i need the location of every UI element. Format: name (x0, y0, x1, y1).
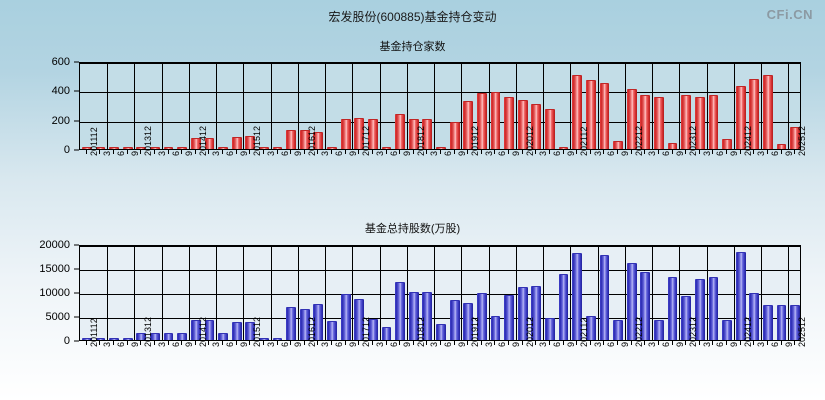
bar (777, 305, 787, 340)
x-axis-tick-mark (154, 341, 155, 345)
x-axis-tick-mark (699, 150, 700, 154)
x-axis-tick-mark (522, 150, 523, 154)
x-axis-tick-mark (236, 150, 237, 154)
x-axis-tick-label: 6 (553, 342, 562, 347)
x-axis-tick-mark (440, 341, 441, 345)
x-axis-tick-mark (617, 150, 618, 154)
bar (709, 277, 719, 340)
x-axis-tick-mark (753, 341, 754, 345)
x-axis-tick-mark (277, 341, 278, 345)
x-axis-tick-label: 3 (158, 342, 167, 347)
x-axis-tick-mark (590, 150, 591, 154)
x-axis-tick-label: 3 (539, 151, 548, 156)
x-axis-tick-label: 6 (607, 342, 616, 347)
x-axis-tick-label: 3 (757, 342, 766, 347)
x-axis-tick-mark (372, 341, 373, 345)
x-axis-tick-mark (781, 341, 782, 345)
y-axis-tick-label: 0 (0, 335, 70, 347)
x-axis-tick-label: 3 (212, 151, 221, 156)
x-axis-tick-mark (345, 150, 346, 154)
x-axis-tick-label: 6 (390, 342, 399, 347)
x-axis-tick-mark (358, 150, 359, 154)
bar (722, 320, 732, 340)
bar (504, 97, 514, 149)
y-axis-tick-mark (74, 317, 79, 318)
x-axis-tick-mark (113, 341, 114, 345)
x-axis-tick-mark (753, 150, 754, 154)
bar (668, 277, 678, 340)
x-axis-tick-label: 202112 (580, 127, 589, 156)
bar (613, 320, 623, 340)
y-axis-tick-label: 0 (0, 144, 70, 156)
x-axis-tick-label: 3 (648, 151, 657, 156)
bar (763, 75, 773, 149)
x-axis-tick-label: 6 (335, 151, 344, 156)
x-axis-tick-label: 9 (567, 151, 576, 156)
x-axis-tick-label: 9 (185, 151, 194, 156)
bar (613, 141, 623, 149)
y-axis-tick-mark (74, 62, 79, 63)
x-axis-tick-mark (685, 341, 686, 345)
bar (491, 92, 501, 149)
x-axis-tick-label: 9 (512, 151, 521, 156)
y-axis-tick-mark (74, 91, 79, 92)
bar (341, 294, 351, 340)
x-axis-tick-label: 202312 (689, 126, 698, 156)
x-axis-tick-label: 201512 (253, 317, 262, 347)
x-axis-tick-label: 3 (485, 342, 494, 347)
x-axis-tick-label: 6 (444, 342, 453, 347)
y-axis-tick-mark (74, 120, 79, 121)
x-axis-tick-mark (304, 150, 305, 154)
x-axis-tick-mark (699, 341, 700, 345)
x-axis-tick-label: 6 (716, 151, 725, 156)
x-axis-tick-label: 3 (267, 342, 276, 347)
x-axis-tick-mark (590, 341, 591, 345)
bar (341, 119, 351, 149)
x-axis-tick-mark (658, 341, 659, 345)
x-axis-tick-mark (426, 341, 427, 345)
x-axis-tick-label: 9 (458, 151, 467, 156)
x-axis-tick-mark (794, 341, 795, 345)
x-axis-tick-label: 3 (594, 342, 603, 347)
x-axis-tick-mark (467, 341, 468, 345)
x-axis-tick-label: 201312 (144, 317, 153, 347)
x-axis-tick-mark (454, 341, 455, 345)
x-axis-tick-label: 3 (376, 151, 385, 156)
x-axis-tick-label: 3 (321, 151, 330, 156)
x-axis-tick-label: 3 (703, 342, 712, 347)
x-axis-tick-label: 3 (757, 151, 766, 156)
x-axis-tick-label: 201912 (471, 126, 480, 156)
x-axis-tick-label: 6 (498, 151, 507, 156)
page-title: 宏发股份(600885)基金持仓变动 (0, 8, 825, 25)
x-axis-tick-mark (644, 341, 645, 345)
x-axis-tick-label: 9 (349, 342, 358, 347)
x-axis-tick-mark (290, 150, 291, 154)
x-axis-tick-mark (685, 150, 686, 154)
x-axis-tick-label: 3 (267, 151, 276, 156)
x-axis-tick-mark (222, 150, 223, 154)
bar (123, 338, 133, 340)
x-axis-tick-label: 201112 (90, 318, 99, 347)
x-axis-tick-label: 201912 (471, 317, 480, 347)
x-axis-tick-label: 6 (716, 342, 725, 347)
x-axis-tick-label: 3 (430, 342, 439, 347)
bar (286, 130, 296, 149)
y-axis-tick-label: 600 (0, 56, 70, 68)
bar (491, 316, 501, 340)
x-axis-tick-label: 6 (390, 151, 399, 156)
bar (177, 147, 187, 149)
bar (382, 327, 392, 340)
x-axis-tick-mark (236, 341, 237, 345)
x-axis-tick-mark (658, 150, 659, 154)
bar (654, 97, 664, 149)
x-axis-tick-label: 6 (226, 342, 235, 347)
x-axis-tick-label: 9 (185, 342, 194, 347)
x-axis-tick-mark (263, 150, 264, 154)
x-axis-tick-mark (481, 150, 482, 154)
x-axis-tick-label: 6 (335, 342, 344, 347)
bar (722, 139, 732, 149)
x-axis-tick-mark (222, 341, 223, 345)
y-axis-tick-mark (74, 269, 79, 270)
x-axis-tick-label: 3 (485, 151, 494, 156)
bar (559, 147, 569, 149)
x-axis-tick-mark (767, 341, 768, 345)
y-axis-tick-mark (74, 150, 79, 151)
x-axis-tick-mark (386, 341, 387, 345)
x-axis-tick-label: 201112 (90, 127, 99, 156)
bar (504, 295, 514, 340)
x-axis-tick-mark (168, 341, 169, 345)
bar (218, 333, 228, 340)
bar (109, 338, 119, 340)
x-axis-tick-mark (331, 150, 332, 154)
x-axis-tick-mark (195, 341, 196, 345)
x-axis-tick-mark (249, 150, 250, 154)
x-axis-tick-mark (317, 341, 318, 345)
x-axis-tick-label: 202212 (635, 317, 644, 347)
bar (545, 109, 555, 149)
x-axis-tick-label: 9 (131, 342, 140, 347)
x-axis-tick-mark (358, 341, 359, 345)
bar (668, 143, 678, 149)
x-axis-tick-mark (454, 150, 455, 154)
x-axis-tick-mark (535, 150, 536, 154)
bar (273, 338, 283, 340)
x-axis-tick-mark (86, 341, 87, 345)
x-axis-tick-label: 3 (539, 342, 548, 347)
x-axis-tick-mark (140, 150, 141, 154)
x-axis-tick-label: 9 (240, 342, 249, 347)
x-axis-tick-mark (113, 150, 114, 154)
y-axis-tick-label: 15000 (0, 263, 70, 275)
x-axis-tick-mark (563, 150, 564, 154)
x-axis-tick-mark (127, 150, 128, 154)
x-axis-tick-mark (399, 341, 400, 345)
x-axis-tick-label: 6 (771, 342, 780, 347)
bar (177, 333, 187, 340)
x-axis-tick-label: 202012 (526, 126, 535, 156)
bar (763, 305, 773, 340)
x-axis-tick-label: 3 (376, 342, 385, 347)
x-axis-tick-label: 6 (117, 342, 126, 347)
x-axis-tick-label: 3 (321, 342, 330, 347)
bar (436, 324, 446, 340)
x-axis-tick-mark (331, 341, 332, 345)
x-axis-tick-label: 9 (621, 151, 630, 156)
bar (232, 322, 242, 340)
x-axis-tick-mark (290, 341, 291, 345)
x-axis-tick-mark (494, 150, 495, 154)
x-axis-tick-label: 202512 (798, 317, 807, 347)
x-axis-tick-label: 6 (281, 151, 290, 156)
bar (327, 147, 337, 149)
x-axis-tick-mark (549, 341, 550, 345)
bar (327, 321, 337, 340)
x-axis-tick-mark (767, 150, 768, 154)
bar (777, 144, 787, 149)
x-axis-tick-label: 6 (662, 342, 671, 347)
x-axis-tick-mark (426, 150, 427, 154)
bar (164, 333, 174, 340)
bar (709, 95, 719, 149)
x-axis-tick-mark (672, 150, 673, 154)
x-axis-tick-label: 6 (172, 151, 181, 156)
x-axis-tick-label: 9 (512, 342, 521, 347)
x-axis-tick-label: 9 (676, 342, 685, 347)
x-axis-tick-label: 9 (403, 151, 412, 156)
x-axis-tick-mark (249, 341, 250, 345)
x-axis-tick-label: 9 (131, 151, 140, 156)
x-axis-tick-label: 6 (607, 151, 616, 156)
x-axis-tick-mark (127, 341, 128, 345)
x-axis-tick-mark (781, 150, 782, 154)
bar (450, 300, 460, 340)
x-axis-tick-mark (794, 150, 795, 154)
x-axis-tick-label: 6 (771, 151, 780, 156)
x-axis-tick-label: 9 (785, 151, 794, 156)
x-axis-tick-mark (304, 341, 305, 345)
x-axis-tick-mark (467, 150, 468, 154)
bar (218, 147, 228, 149)
bar (436, 147, 446, 149)
x-axis-tick-label: 202112 (580, 318, 589, 347)
watermark: CFi.CN (767, 7, 813, 22)
y-axis-tick-label: 400 (0, 85, 70, 97)
x-axis-tick-label: 201412 (199, 317, 208, 347)
x-axis-tick-mark (99, 150, 100, 154)
x-axis-tick-mark (631, 150, 632, 154)
x-axis-tick-mark (726, 341, 727, 345)
x-axis-tick-label: 201812 (417, 317, 426, 347)
x-axis-tick-mark (603, 150, 604, 154)
bar (600, 83, 610, 149)
x-axis-tick-label: 6 (553, 151, 562, 156)
x-axis-tick-label: 6 (226, 151, 235, 156)
y-axis-tick-mark (74, 293, 79, 294)
bar (395, 282, 405, 340)
x-axis-tick-label: 3 (430, 151, 439, 156)
x-axis-tick-label: 9 (730, 151, 739, 156)
x-axis-tick-label: 9 (240, 151, 249, 156)
x-axis-tick-label: 202512 (798, 126, 807, 156)
x-axis-tick-mark (726, 150, 727, 154)
x-axis-tick-label: 9 (294, 151, 303, 156)
x-axis-tick-label: 6 (117, 151, 126, 156)
x-axis-tick-label: 201712 (362, 126, 371, 156)
x-axis-tick-label: 3 (212, 342, 221, 347)
x-axis-tick-mark (208, 341, 209, 345)
x-axis-tick-mark (712, 341, 713, 345)
x-axis-tick-mark (576, 150, 577, 154)
x-axis-tick-label: 9 (349, 151, 358, 156)
bar (109, 147, 119, 149)
x-axis-tick-mark (181, 341, 182, 345)
bar (559, 274, 569, 340)
x-axis-tick-mark (86, 150, 87, 154)
x-axis-tick-mark (413, 150, 414, 154)
x-axis-tick-mark (740, 341, 741, 345)
x-axis-tick-label: 3 (158, 151, 167, 156)
x-axis-tick-label: 202312 (689, 317, 698, 347)
x-axis-tick-label: 6 (662, 151, 671, 156)
x-axis-tick-mark (413, 341, 414, 345)
chart-root: 宏发股份(600885)基金持仓变动 CFi.CN 基金持仓家数 基金总持股数(… (0, 0, 825, 400)
x-axis-tick-label: 201812 (417, 126, 426, 156)
x-axis-tick-mark (740, 150, 741, 154)
x-axis-tick-mark (168, 150, 169, 154)
x-axis-tick-label: 202012 (526, 317, 535, 347)
bar (545, 318, 555, 340)
bar (286, 307, 296, 340)
x-axis-tick-mark (181, 150, 182, 154)
bar (600, 255, 610, 340)
top-panel-title: 基金持仓家数 (0, 38, 825, 54)
y-axis-tick-mark (74, 341, 79, 342)
bar (382, 147, 392, 149)
x-axis-tick-label: 6 (498, 342, 507, 347)
bar (164, 147, 174, 149)
x-axis-tick-label: 9 (621, 342, 630, 347)
x-axis-tick-mark (140, 341, 141, 345)
y-axis-tick-label: 10000 (0, 287, 70, 299)
x-axis-tick-label: 9 (676, 151, 685, 156)
x-axis-tick-label: 9 (730, 342, 739, 347)
y-axis-tick-mark (74, 245, 79, 246)
bar (123, 147, 133, 149)
x-axis-tick-label: 9 (403, 342, 412, 347)
x-axis-tick-label: 6 (172, 342, 181, 347)
x-axis-tick-mark (563, 341, 564, 345)
x-axis-tick-mark (494, 341, 495, 345)
x-axis-tick-mark (317, 150, 318, 154)
x-axis-tick-mark (617, 341, 618, 345)
y-axis-tick-label: 5000 (0, 311, 70, 323)
x-axis-tick-mark (603, 341, 604, 345)
x-axis-tick-mark (631, 341, 632, 345)
bar (450, 122, 460, 149)
x-axis-tick-label: 6 (281, 342, 290, 347)
x-axis-tick-mark (99, 341, 100, 345)
bar (395, 114, 405, 149)
y-axis-tick-label: 20000 (0, 239, 70, 251)
x-axis-tick-mark (522, 341, 523, 345)
x-axis-tick-label: 201512 (253, 126, 262, 156)
x-axis-tick-mark (372, 150, 373, 154)
x-axis-tick-mark (644, 150, 645, 154)
x-axis-tick-label: 3 (703, 151, 712, 156)
x-axis-tick-label: 9 (785, 342, 794, 347)
x-axis-tick-label: 9 (567, 342, 576, 347)
x-axis-tick-mark (195, 150, 196, 154)
x-axis-tick-mark (508, 150, 509, 154)
x-axis-tick-mark (386, 150, 387, 154)
x-axis-tick-label: 201712 (362, 317, 371, 347)
x-axis-tick-label: 3 (103, 151, 112, 156)
x-axis-tick-label: 201412 (199, 126, 208, 156)
x-axis-tick-mark (399, 150, 400, 154)
x-axis-tick-mark (712, 150, 713, 154)
x-axis-tick-mark (263, 341, 264, 345)
x-axis-tick-label: 201612 (308, 126, 317, 156)
x-axis-tick-label: 202412 (744, 317, 753, 347)
x-axis-tick-label: 201312 (144, 126, 153, 156)
x-axis-tick-label: 201612 (308, 317, 317, 347)
x-axis-tick-mark (672, 341, 673, 345)
x-axis-tick-label: 6 (444, 151, 453, 156)
x-axis-tick-mark (208, 150, 209, 154)
x-axis-tick-label: 3 (648, 342, 657, 347)
x-axis-tick-mark (154, 150, 155, 154)
x-axis-tick-mark (535, 341, 536, 345)
x-axis-tick-label: 9 (458, 342, 467, 347)
bar (654, 320, 664, 340)
x-axis-tick-mark (576, 341, 577, 345)
x-axis-tick-label: 9 (294, 342, 303, 347)
x-axis-tick-mark (440, 150, 441, 154)
x-axis-tick-mark (549, 150, 550, 154)
x-axis-tick-mark (277, 150, 278, 154)
bottom-panel-title: 基金总持股数(万股) (0, 220, 825, 236)
bar (273, 147, 283, 149)
x-axis-tick-label: 202212 (635, 126, 644, 156)
x-axis-tick-label: 3 (594, 151, 603, 156)
x-axis-tick-mark (508, 341, 509, 345)
x-axis-tick-mark (481, 341, 482, 345)
x-axis-tick-mark (345, 341, 346, 345)
bar (232, 137, 242, 149)
y-axis-tick-label: 200 (0, 115, 70, 127)
x-axis-tick-label: 3 (103, 342, 112, 347)
x-axis-tick-label: 202412 (744, 126, 753, 156)
